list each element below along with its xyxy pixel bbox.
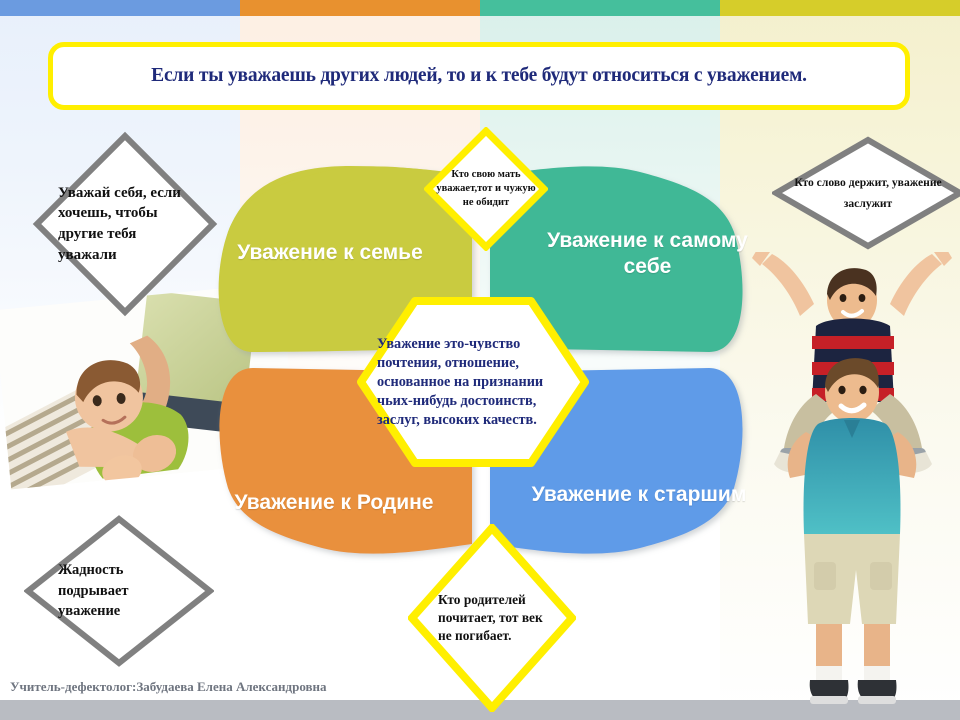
petal-label-family: Уважение к семье: [225, 240, 435, 266]
diamond-greed-text: Жадность подрывает уважение: [24, 515, 214, 667]
page-title: Если ты уважаешь других людей, то и к те…: [151, 65, 807, 87]
diamond-respect-yourself: Уважай себя, если хочешь, чтобы другие т…: [32, 131, 218, 317]
diamond-keeps-word: Кто слово держит, уважение заслужит: [772, 136, 960, 250]
title-banner: Если ты уважаешь других людей, то и к те…: [48, 42, 910, 110]
top-bar-segment-orange: [240, 0, 480, 16]
petal-label-elders: Уважение к старшим: [527, 482, 751, 508]
diamond-parents: Кто родителей почитает, тот век не погиб…: [408, 524, 576, 712]
diamond-mother-text: Кто свою мать уважает,тот и чужую не оби…: [424, 127, 548, 251]
diamond-greed: Жадность подрывает уважение: [24, 515, 214, 667]
top-bar-segment-teal: [480, 0, 720, 16]
top-bar-segment-yellow: [720, 0, 960, 16]
petal-label-motherland: Уважение к Родине: [228, 490, 440, 516]
petal-label-self: Уважение к самому себе: [530, 228, 765, 279]
center-definition-hexagon: Уважение это-чувство почтения, отношение…: [357, 297, 589, 467]
photo-father-and-son: [744, 252, 960, 708]
diamond-respect-yourself-text: Уважай себя, если хочешь, чтобы другие т…: [32, 131, 218, 317]
footer-author: Учитель-дефектолог:Забудаева Елена Алекс…: [10, 679, 327, 695]
top-bar-segment-blue: [0, 0, 240, 16]
slide-canvas: Уважение к семье Уважение к самому себе …: [0, 0, 960, 720]
center-definition-text: Уважение это-чувство почтения, отношение…: [377, 317, 569, 447]
diamond-keeps-word-text: Кто слово держит, уважение заслужит: [772, 136, 960, 250]
diamond-mother: Кто свою мать уважает,тот и чужую не оби…: [424, 127, 548, 251]
top-color-bar: [0, 0, 960, 16]
diamond-parents-text: Кто родителей почитает, тот век не погиб…: [408, 524, 576, 712]
